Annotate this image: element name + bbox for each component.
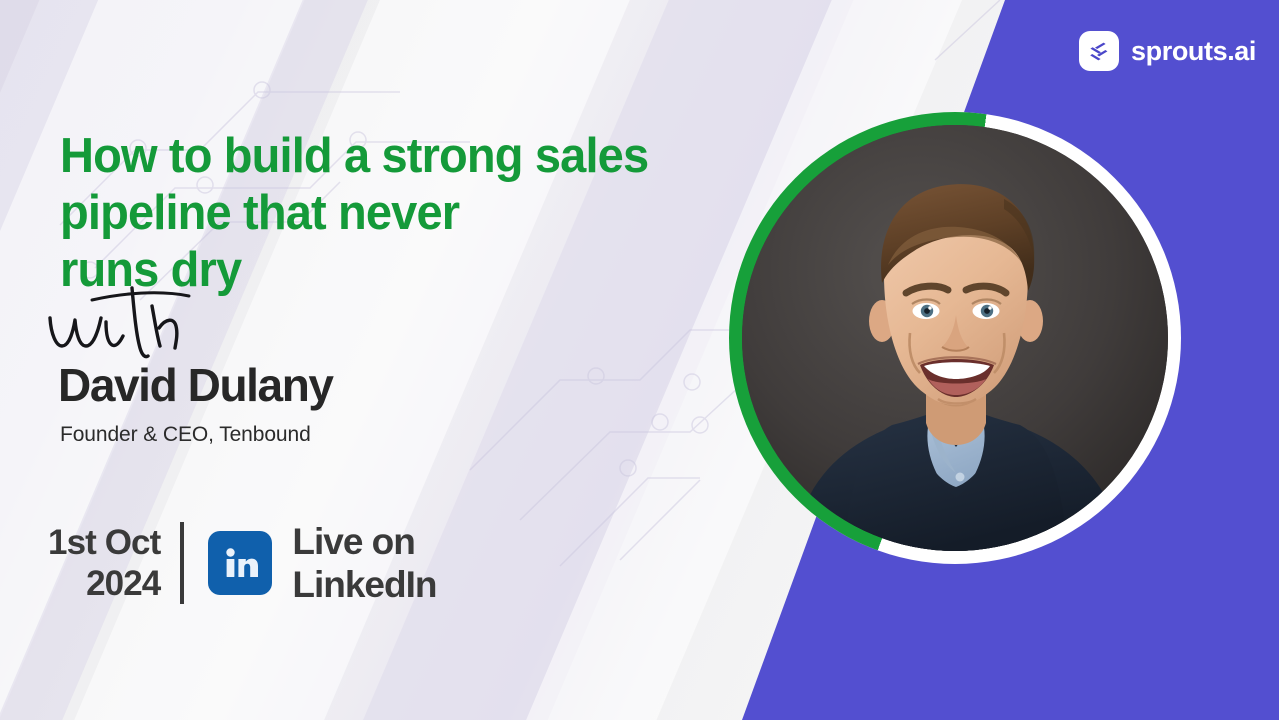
webinar-promo-poster: sprouts.ai How to build a strong sales p… bbox=[0, 0, 1279, 720]
event-date-year: 2024 bbox=[48, 563, 160, 604]
speaker-name: David Dulany bbox=[58, 362, 333, 408]
platform-label: Live on LinkedIn bbox=[292, 520, 436, 607]
with-script-label bbox=[44, 278, 244, 368]
headline-line-1: How to build a strong sales bbox=[60, 128, 761, 185]
platform-line-1: Live on bbox=[292, 520, 436, 563]
page-title: How to build a strong sales pipeline tha… bbox=[60, 128, 761, 300]
headline-line-2: pipeline that never bbox=[60, 185, 761, 242]
speaker-portrait bbox=[729, 112, 1181, 564]
event-footer: 1st Oct 2024 Live on LinkedIn bbox=[48, 520, 436, 607]
footer-divider bbox=[180, 522, 184, 604]
platform-line-2: LinkedIn bbox=[292, 563, 436, 606]
brand-name: sprouts.ai bbox=[1131, 38, 1256, 65]
avatar bbox=[742, 125, 1168, 551]
linkedin-icon[interactable] bbox=[208, 531, 272, 595]
speaker-role: Founder & CEO, Tenbound bbox=[60, 424, 311, 445]
sprouts-logo-icon bbox=[1079, 31, 1119, 71]
event-date-day: 1st Oct bbox=[48, 522, 160, 563]
event-date: 1st Oct 2024 bbox=[48, 522, 180, 605]
brand-logo[interactable]: sprouts.ai bbox=[1079, 31, 1256, 71]
